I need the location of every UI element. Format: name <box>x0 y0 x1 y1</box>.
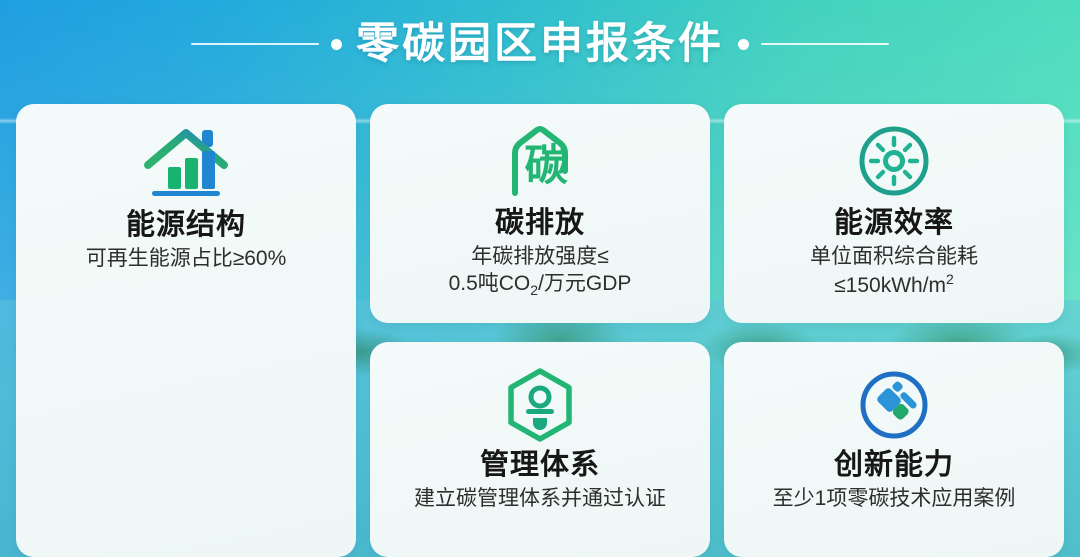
desc-text: 0.5吨CO <box>449 272 531 295</box>
rocket-circle-icon <box>857 368 931 442</box>
criteria-card-grid: 能源结构 可再生能源占比≥60% 碳 碳排放 年碳排放强度≤ 0.5吨CO2/万… <box>16 104 1064 557</box>
card-description-line1: 年碳排放强度≤ <box>471 244 609 271</box>
header-left-decoration <box>191 39 342 50</box>
card-description: 可再生能源占比≥60% <box>86 246 287 273</box>
subscript-two: 2 <box>530 282 538 298</box>
page-title: 零碳园区申报条件 <box>356 23 724 66</box>
card-title: 能源效率 <box>834 206 954 240</box>
card-title: 管理体系 <box>480 448 600 482</box>
desc-text-tail: /万元GDP <box>538 272 631 295</box>
card-description-line2: ≤150kWh/m2 <box>834 271 954 300</box>
decorative-dot-icon <box>738 39 749 50</box>
card-description: 至少1项零碳技术应用案例 <box>773 486 1016 513</box>
card-description-line1: 单位面积综合能耗 <box>810 244 978 271</box>
card-energy-efficiency[interactable]: 能源效率 单位面积综合能耗 ≤150kWh/m2 <box>724 104 1064 323</box>
card-carbon-emission[interactable]: 碳 碳排放 年碳排放强度≤ 0.5吨CO2/万元GDP <box>370 104 710 323</box>
card-innovation-capability[interactable]: 创新能力 至少1项零碳技术应用案例 <box>724 342 1064 557</box>
house-bar-chart-icon <box>140 124 232 202</box>
card-description-line2: 0.5吨CO2/万元GDP <box>449 271 632 300</box>
poster-header: 零碳园区申报条件 <box>0 8 1080 80</box>
desc-text: ≤150kWh/m <box>834 274 946 297</box>
sun-circle-icon <box>857 122 931 200</box>
card-description: 建立碳管理体系并通过认证 <box>414 486 666 513</box>
superscript-two: 2 <box>946 271 954 287</box>
infographic-poster: 零碳园区申报条件 <box>0 0 1080 557</box>
decorative-line-icon <box>761 43 889 45</box>
decorative-line-icon <box>191 43 319 45</box>
card-energy-structure[interactable]: 能源结构 可再生能源占比≥60% <box>16 104 356 557</box>
card-management-system[interactable]: 管理体系 建立碳管理体系并通过认证 <box>370 342 710 557</box>
card-title: 能源结构 <box>126 208 246 242</box>
hexagon-person-icon <box>501 368 579 442</box>
carbon-house-icon: 碳 <box>501 122 579 200</box>
card-title: 碳排放 <box>495 206 585 240</box>
card-title: 创新能力 <box>834 448 954 482</box>
svg-text:碳: 碳 <box>525 142 569 190</box>
header-right-decoration <box>738 39 889 50</box>
decorative-dot-icon <box>331 39 342 50</box>
